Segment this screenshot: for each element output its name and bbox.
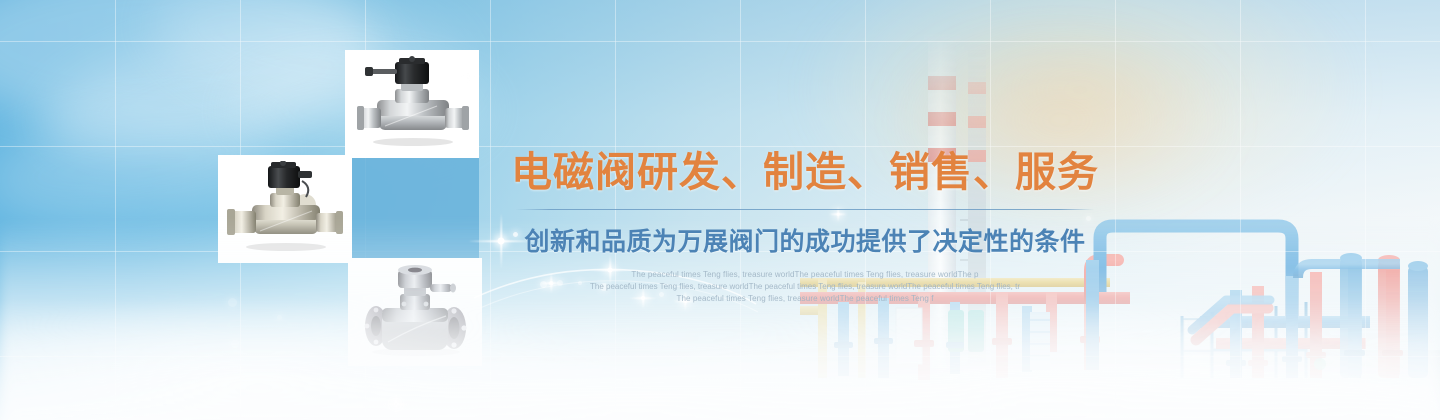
decorative-blurb: The peaceful times Teng flies, treasure … bbox=[505, 269, 1105, 305]
bokeh-dot bbox=[228, 298, 237, 307]
page-subtitle: 创新和品质为万展阀门的成功提供了决定性的条件 bbox=[505, 222, 1105, 258]
bokeh-dot bbox=[231, 340, 239, 348]
hero-copy: 电磁阀研发、制造、销售、服务 创新和品质为万展阀门的成功提供了决定性的条件 Th… bbox=[505, 148, 1105, 305]
page-title: 电磁阀研发、制造、销售、服务 bbox=[505, 148, 1105, 196]
blurb-line-2: The peaceful times Teng flies, treasure … bbox=[505, 281, 1105, 293]
product-image-solenoid-valve-threaded-top bbox=[351, 56, 473, 152]
product-tile-solenoid-valve-threaded-top[interactable] bbox=[345, 50, 479, 158]
blurb-line-1: The peaceful times Teng flies, treasure … bbox=[505, 269, 1105, 281]
blurb-line-3: The peaceful times Teng flies, treasure … bbox=[505, 293, 1105, 305]
hero-banner: 电磁阀研发、制造、销售、服务 创新和品质为万展阀门的成功提供了决定性的条件 Th… bbox=[0, 0, 1440, 420]
fog-bank-lower bbox=[0, 300, 1440, 420]
title-divider bbox=[516, 209, 1094, 210]
bokeh-dot bbox=[277, 315, 282, 320]
